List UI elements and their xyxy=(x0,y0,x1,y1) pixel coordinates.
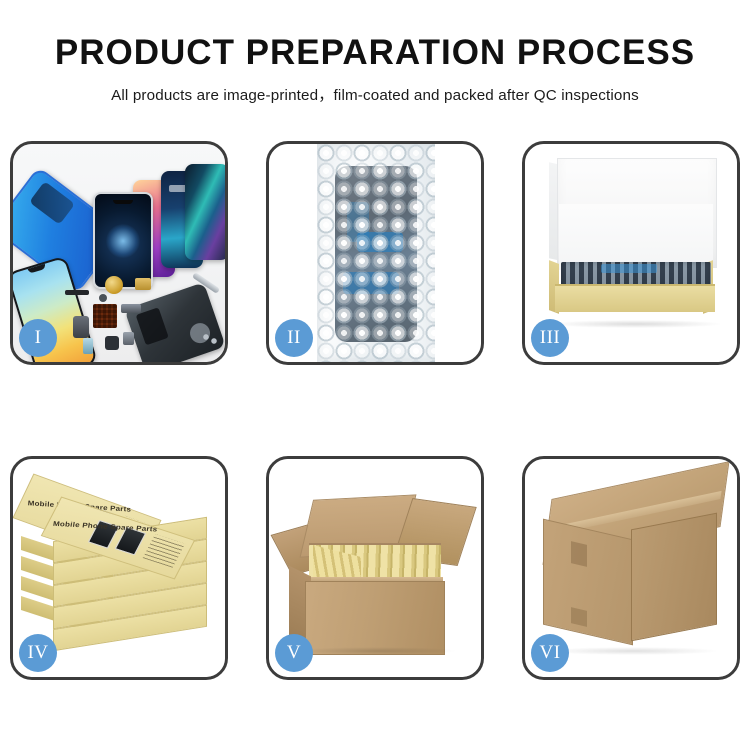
gold-contact-part xyxy=(135,278,151,290)
process-step-2[interactable]: II xyxy=(266,141,484,365)
small-component-a xyxy=(83,338,93,354)
drop-shadow xyxy=(295,647,457,655)
step-badge-4: IV xyxy=(19,634,57,672)
carton-seam-lower xyxy=(571,607,587,627)
bubble-texture-overlay xyxy=(317,144,435,362)
carton-right-face xyxy=(631,513,717,642)
small-component-b xyxy=(105,336,119,350)
step-badge-6: VI xyxy=(531,634,569,672)
mailer-box-front xyxy=(555,284,715,312)
speaker-coil-part xyxy=(105,276,123,294)
process-step-6[interactable]: VI xyxy=(522,456,740,680)
step-badge-1: I xyxy=(19,319,57,357)
carton-left-face xyxy=(543,519,633,646)
connector-grid-part xyxy=(93,304,117,328)
drop-shadow xyxy=(551,320,721,328)
process-step-grid: I II III xyxy=(10,141,740,680)
mailer-foam-liner xyxy=(559,204,713,270)
header: PRODUCT PREPARATION PROCESS All products… xyxy=(0,0,750,128)
phone-front-glass xyxy=(93,192,153,289)
process-step-1[interactable]: I xyxy=(10,141,228,365)
phone-screen-wave xyxy=(185,164,225,260)
small-component-c xyxy=(123,332,134,345)
drop-shadow xyxy=(549,647,717,655)
process-step-3[interactable]: III xyxy=(522,141,740,365)
front-box-spec-lines xyxy=(143,534,185,568)
step-badge-3: III xyxy=(531,319,569,357)
process-step-5[interactable]: V xyxy=(266,456,484,680)
carton-seam-upper xyxy=(571,541,587,567)
page-title: PRODUCT PREPARATION PROCESS xyxy=(0,33,750,73)
button-flex-part xyxy=(121,304,141,313)
page-subtitle: All products are image-printed，film-coat… xyxy=(0,83,750,105)
carton-front xyxy=(305,581,445,655)
process-step-4[interactable]: Mobile Phone Spare Parts Mobile Phone Sp… xyxy=(10,456,228,680)
flex-strip-part xyxy=(65,290,89,295)
flex-cable-part xyxy=(73,316,89,338)
screws xyxy=(203,334,219,344)
step-badge-5: V xyxy=(275,634,313,672)
step-badge-2: II xyxy=(275,319,313,357)
camera-lens-part xyxy=(99,294,107,302)
